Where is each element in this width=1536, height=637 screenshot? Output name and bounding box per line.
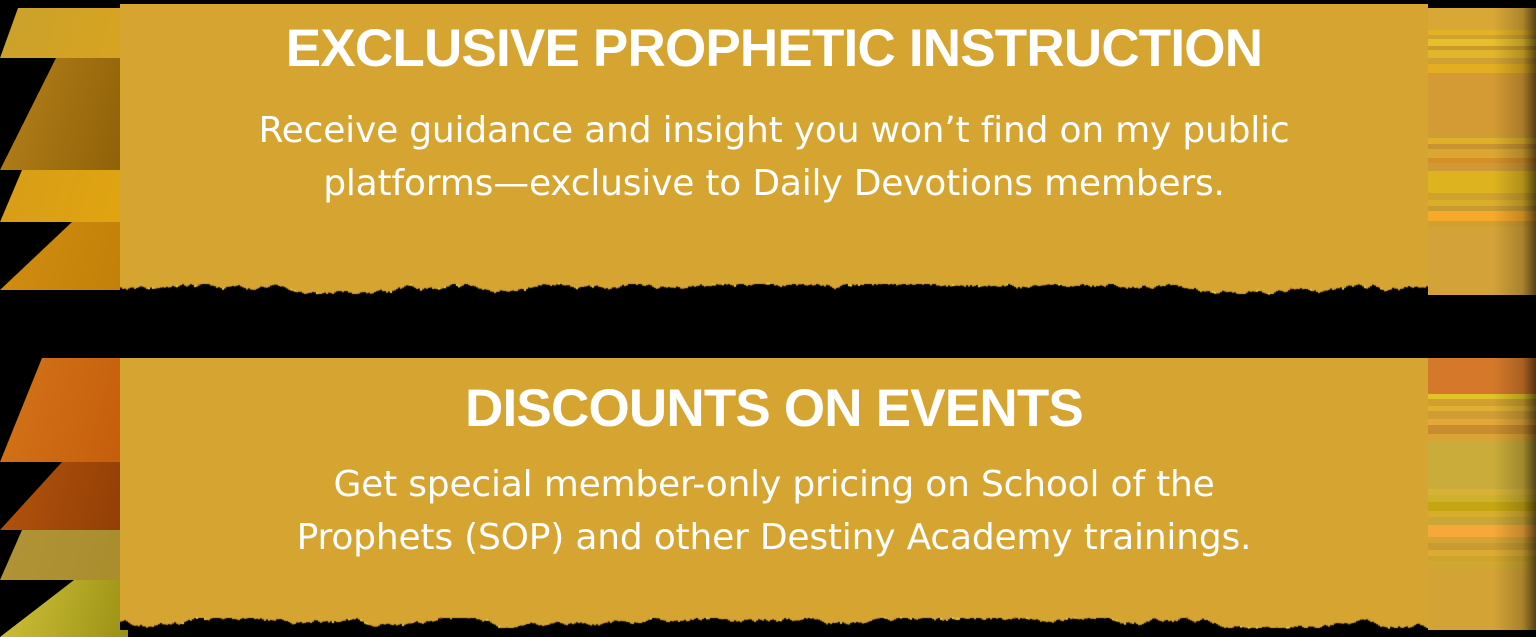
decorative-pixel-streak — [1424, 556, 1536, 561]
decorative-pixel-streak — [1424, 131, 1536, 138]
decorative-pixel-streak — [1424, 561, 1536, 569]
decorative-pixel-streak — [1424, 399, 1536, 406]
card-title-wrap: DISCOUNTS ON EVENTS — [160, 358, 1388, 436]
decorative-pixel-streak — [1424, 73, 1536, 131]
decorative-angled-band — [0, 358, 128, 462]
card-title: DISCOUNTS ON EVENTS — [160, 382, 1388, 436]
decorative-pixel-streak — [1424, 537, 1536, 543]
decorative-pixel-streak — [1424, 525, 1536, 537]
decorative-pixel-streak — [1424, 200, 1536, 206]
right-decorative-streaks-top — [1424, 4, 1536, 296]
decorative-pixel-streak — [1424, 163, 1536, 171]
decorative-pixel-streak — [1424, 171, 1536, 193]
card-description-line: Prophets (SOP) and other Destiny Academy… — [160, 511, 1388, 564]
decorative-pixel-streak — [1424, 543, 1536, 550]
decorative-pixel-streak — [1424, 569, 1536, 630]
decorative-pixel-streak — [1424, 517, 1536, 525]
decorative-pixel-streak — [1424, 8, 1536, 30]
decorative-pixel-streak — [1424, 206, 1536, 211]
decorative-pixel-streak — [1424, 495, 1536, 502]
decorative-pixel-streak — [1424, 35, 1536, 39]
decorative-pixel-streak — [1424, 158, 1536, 163]
decorative-pixel-streak — [1424, 193, 1536, 200]
decorative-pixel-streak — [1424, 39, 1536, 46]
card-content: DISCOUNTS ON EVENTS Get special member-o… — [120, 358, 1428, 564]
decorative-angled-band — [0, 170, 128, 222]
decorative-angled-band — [0, 58, 128, 170]
decorative-pixel-streak — [1424, 489, 1536, 495]
decorative-pixel-streak — [1424, 419, 1536, 425]
decorative-angled-band — [0, 8, 128, 58]
decorative-angled-band — [0, 222, 128, 290]
decorative-pixel-streak — [1424, 441, 1536, 489]
decorative-angled-band — [0, 462, 128, 530]
decorative-pixel-streak — [1424, 425, 1536, 434]
decorative-angled-band — [0, 580, 128, 637]
card-text-wrap: Get special member-only pricing on Schoo… — [160, 436, 1388, 564]
card-text-wrap: Receive guidance and insight you won’t f… — [160, 76, 1388, 210]
decorative-pixel-streak — [1424, 58, 1536, 64]
decorative-pixel-streak — [1424, 358, 1536, 394]
decorative-pixel-streak — [1424, 30, 1536, 35]
card-title: EXCLUSIVE PROPHETIC INSTRUCTION — [160, 22, 1388, 76]
decorative-pixel-streak — [1424, 227, 1536, 295]
decorative-pixel-streak — [1424, 411, 1536, 419]
decorative-pixel-streak — [1424, 221, 1536, 227]
card-title-wrap: EXCLUSIVE PROPHETIC INSTRUCTION — [160, 4, 1388, 76]
benefit-card-discounts-on-events: DISCOUNTS ON EVENTS Get special member-o… — [120, 358, 1428, 630]
decorative-pixel-streak — [1424, 406, 1536, 411]
card-description-line: Receive guidance and insight you won’t f… — [160, 104, 1388, 157]
right-decorative-streaks-bottom — [1424, 358, 1536, 630]
decorative-pixel-streak — [1424, 511, 1536, 517]
decorative-pixel-streak — [1424, 46, 1536, 50]
promo-banner-stage: EXCLUSIVE PROPHETIC INSTRUCTION Receive … — [0, 0, 1536, 637]
card-content: EXCLUSIVE PROPHETIC INSTRUCTION Receive … — [120, 4, 1428, 210]
decorative-pixel-streak — [1424, 211, 1536, 221]
decorative-pixel-streak — [1424, 394, 1536, 399]
torn-paper-edge-icon — [120, 282, 1428, 296]
card-description: Get special member-only pricing on Schoo… — [160, 458, 1388, 564]
decorative-pixel-streak — [1424, 144, 1536, 149]
card-description: Receive guidance and insight you won’t f… — [160, 104, 1388, 210]
card-description-line: platforms—exclusive to Daily Devotions m… — [160, 157, 1388, 210]
decorative-pixel-streak — [1424, 502, 1536, 511]
decorative-pixel-streak — [1424, 434, 1536, 441]
torn-paper-edge-icon — [120, 616, 1428, 630]
decorative-pixel-streak — [1424, 149, 1536, 158]
card-description-line: Get special member-only pricing on Schoo… — [160, 458, 1388, 511]
decorative-angled-band — [0, 530, 128, 580]
decorative-pixel-streak — [1424, 50, 1536, 58]
benefit-card-exclusive-prophetic-instruction: EXCLUSIVE PROPHETIC INSTRUCTION Receive … — [120, 4, 1428, 296]
decorative-pixel-streak — [1424, 138, 1536, 144]
left-decorative-bands — [0, 0, 128, 637]
decorative-pixel-streak — [1424, 64, 1536, 73]
decorative-pixel-streak — [1424, 550, 1536, 556]
